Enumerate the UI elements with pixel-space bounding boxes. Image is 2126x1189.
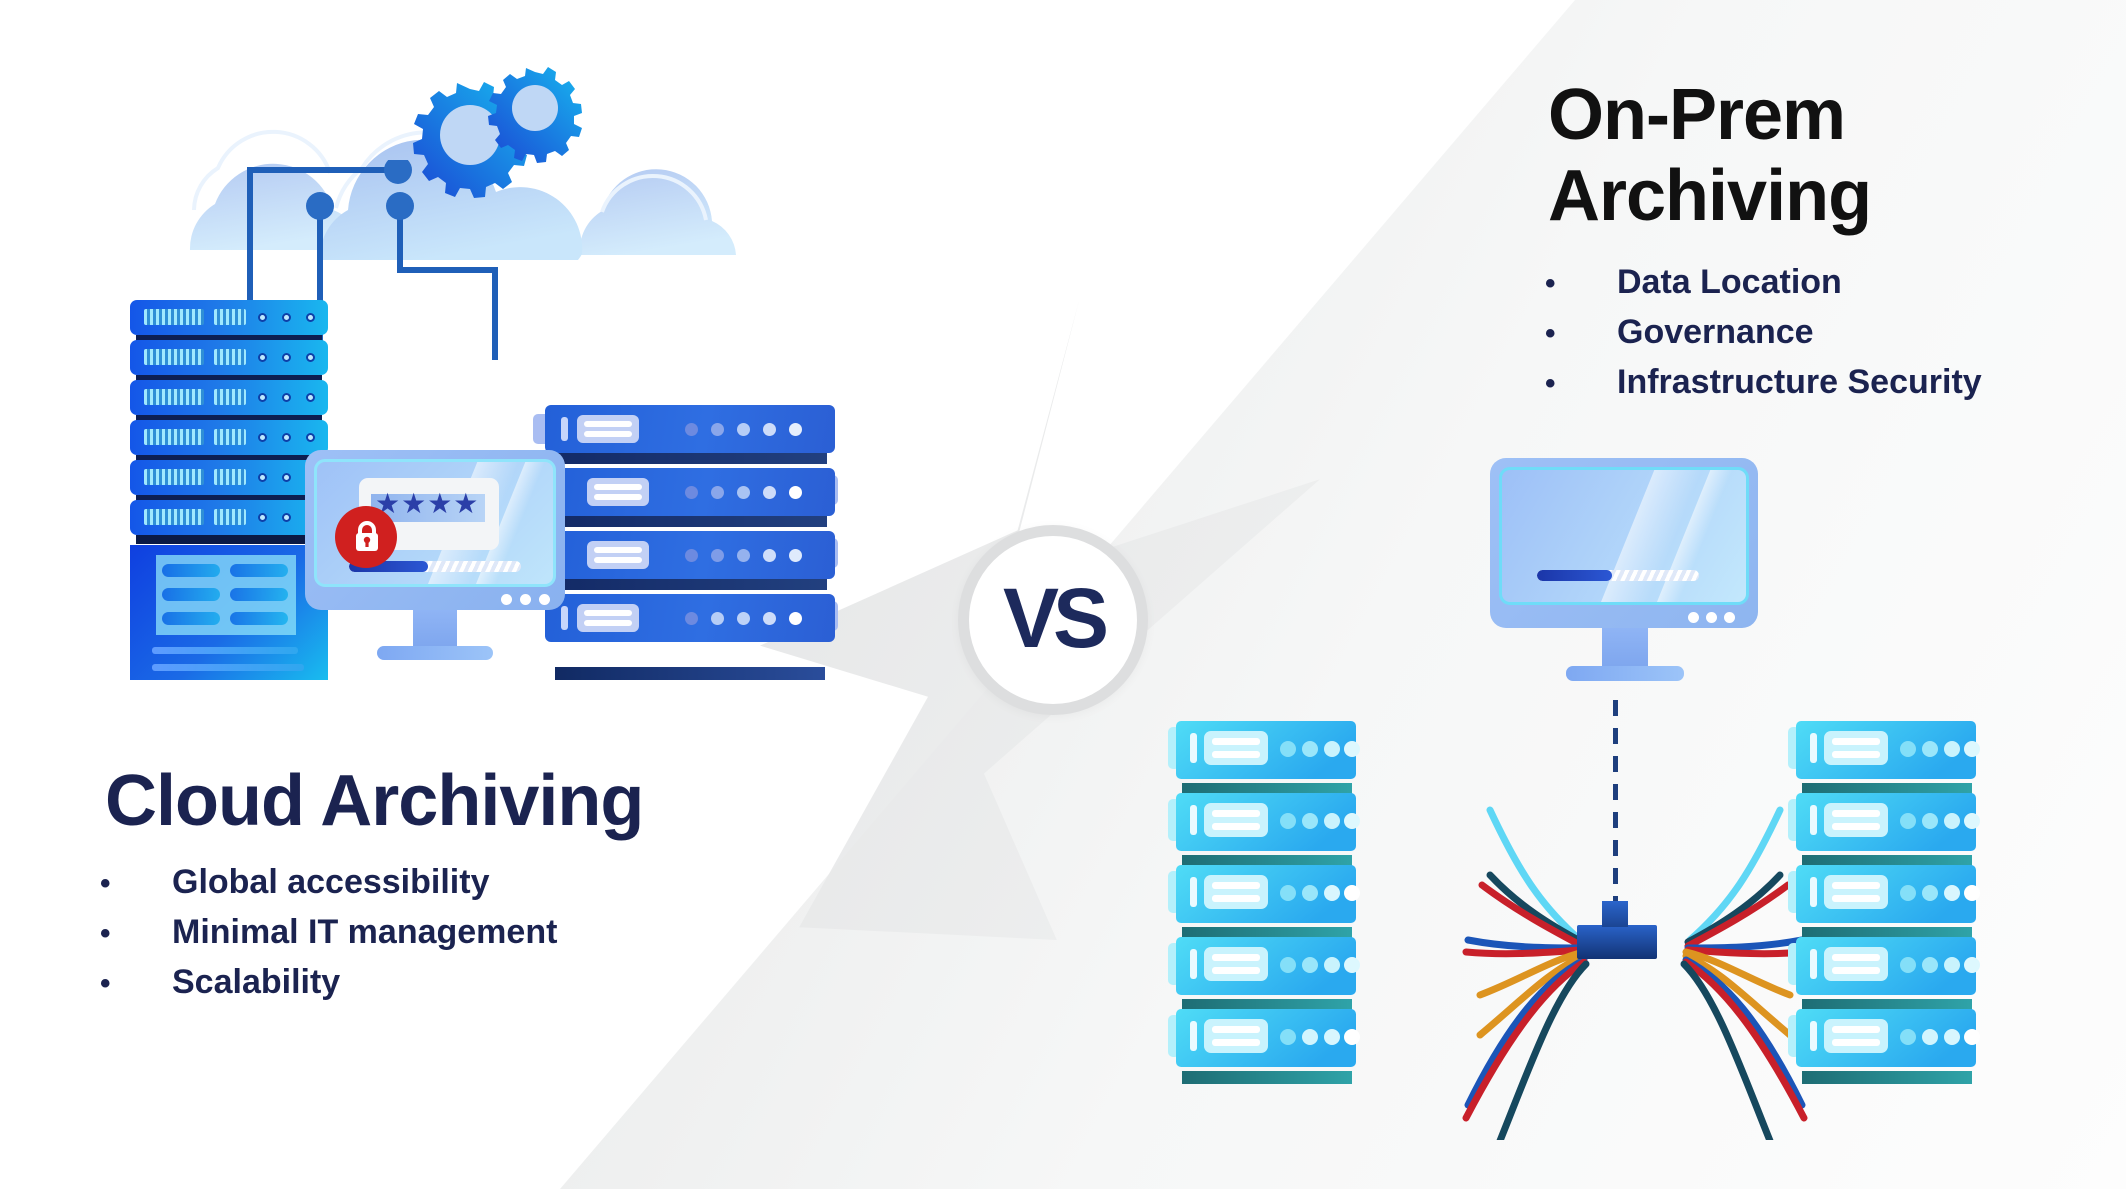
on-prem-progress-bar	[1537, 570, 1699, 581]
list-item-label: Scalability	[172, 965, 340, 999]
list-item: • Global accessibility	[100, 865, 557, 899]
connector-dot	[386, 192, 414, 220]
server-rack-right	[1780, 715, 1990, 1115]
bullet-marker: •	[1545, 369, 1617, 399]
server-rack-blue	[130, 300, 328, 680]
list-item-label: Infrastructure Security	[1617, 365, 1982, 399]
list-item-label: Global accessibility	[172, 865, 489, 899]
page-title-right: On-Prem Archiving	[1548, 75, 1871, 236]
bullet-marker: •	[1545, 319, 1617, 349]
list-item-label: Data Location	[1617, 265, 1842, 299]
server-rack-dark-blue	[545, 405, 835, 680]
on-prem-monitor	[1490, 458, 1758, 688]
server-rack-left	[1160, 715, 1370, 1115]
list-item: • Governance	[1545, 315, 1982, 349]
list-item: • Scalability	[100, 965, 557, 999]
infographic-canvas: ★★★★ VS	[0, 0, 2126, 1189]
connector-dot	[384, 160, 412, 184]
network-hub	[1577, 925, 1657, 959]
list-item: • Data Location	[1545, 265, 1982, 299]
network-hub-stub	[1602, 901, 1628, 927]
bullet-marker: •	[100, 969, 172, 999]
bullet-marker: •	[1545, 269, 1617, 299]
page-title-right-line2: Archiving	[1548, 156, 1871, 237]
list-item: • Infrastructure Security	[1545, 365, 1982, 399]
lock-icon	[352, 520, 382, 554]
connector-dot	[306, 192, 334, 220]
page-title-left: Cloud Archiving	[105, 760, 643, 842]
password-stars: ★★★★	[375, 490, 479, 518]
bullet-marker: •	[100, 919, 172, 949]
feature-list-left: • Global accessibility • Minimal IT mana…	[100, 865, 557, 1015]
list-item: • Minimal IT management	[100, 915, 557, 949]
feature-list-right: • Data Location • Governance • Infrastru…	[1545, 265, 1982, 415]
vs-badge: VS	[958, 525, 1148, 715]
lock-badge	[335, 506, 397, 568]
monitor-with-password: ★★★★	[305, 450, 565, 665]
vs-label: VS	[1003, 570, 1103, 667]
page-title-right-line1: On-Prem	[1548, 75, 1871, 156]
list-item-label: Governance	[1617, 315, 1814, 349]
list-item-label: Minimal IT management	[172, 915, 557, 949]
bullet-marker: •	[100, 869, 172, 899]
